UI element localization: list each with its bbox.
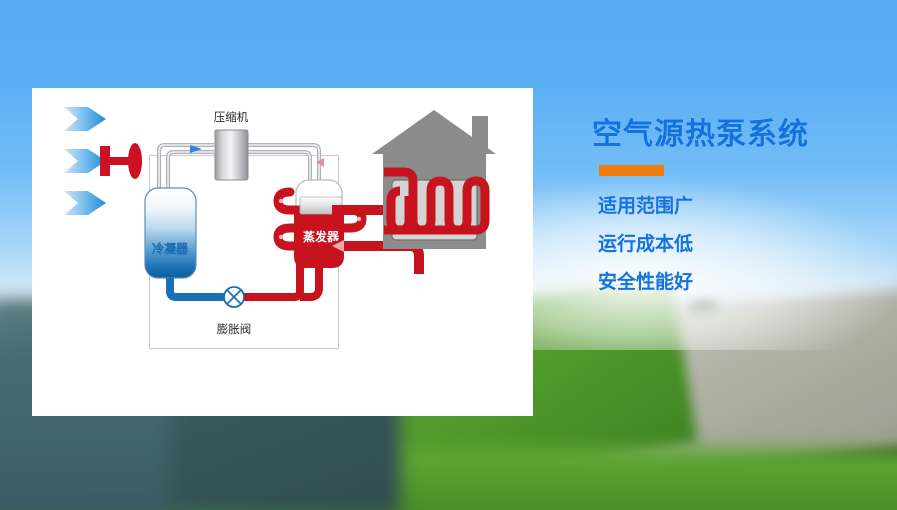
- diagram-card: 压缩机 冷凝器 膨胀阀: [32, 88, 533, 416]
- liquid-line-cold: [170, 278, 224, 297]
- fan-damper-icon: [100, 143, 142, 179]
- airflow-arrow-group: [64, 107, 106, 215]
- expansion-valve-label: 膨胀阀: [217, 322, 252, 336]
- airflow-arrow-icon: [64, 149, 106, 173]
- condenser-unit: [145, 188, 196, 278]
- liquid-line-hot: [244, 263, 300, 297]
- condenser-label: 冷凝器: [152, 241, 189, 256]
- list-item: 运行成本低: [598, 235, 892, 254]
- expansion-valve-unit: [224, 287, 244, 307]
- list-item: 安全性能好: [598, 273, 892, 292]
- airflow-arrow-icon: [64, 191, 106, 215]
- title-accent-rule: [599, 165, 664, 176]
- compressor-label: 压缩机: [214, 110, 249, 124]
- house-graphic: [372, 110, 496, 249]
- airflow-arrow-icon: [64, 107, 106, 131]
- heat-pump-diagram: 压缩机 冷凝器 膨胀阀: [32, 88, 533, 416]
- list-item: 适用范围广: [598, 197, 892, 216]
- bullet-list: 适用范围广 运行成本低 安全性能好: [598, 197, 892, 292]
- text-column: 空气源热泵系统 适用范围广 运行成本低 安全性能好: [592, 118, 892, 292]
- compressor-unit: [215, 130, 248, 180]
- evaporator-unit: [278, 180, 362, 268]
- slide-canvas: 压缩机 冷凝器 膨胀阀: [0, 0, 897, 510]
- page-title: 空气源热泵系统: [592, 118, 892, 153]
